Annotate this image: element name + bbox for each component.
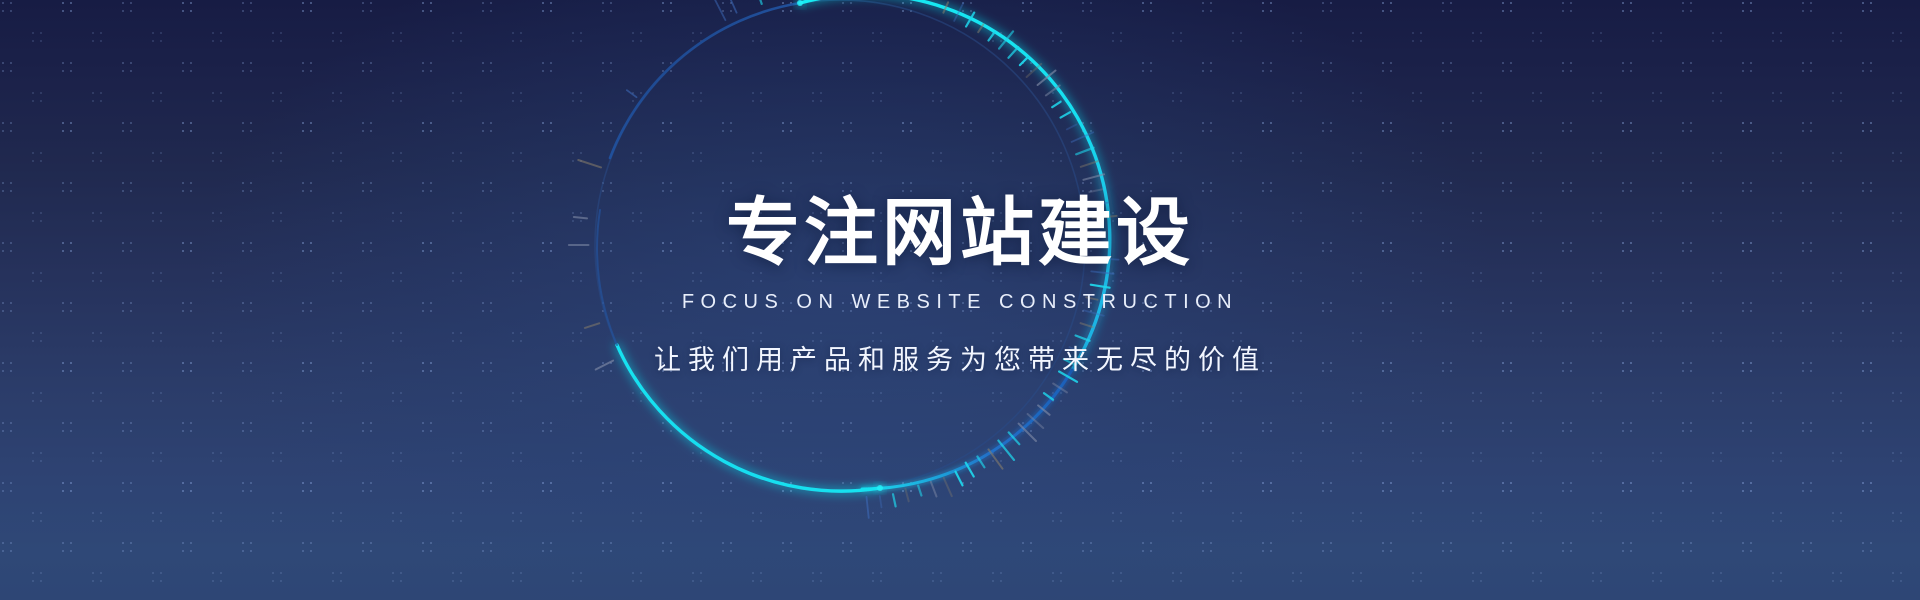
banner-content: 专注网站建设 FOCUS ON WEBSITE CONSTRUCTION 让我们…: [0, 0, 1920, 600]
hero-banner: 专注网站建设 FOCUS ON WEBSITE CONSTRUCTION 让我们…: [0, 0, 1920, 600]
banner-tagline: 让我们用产品和服务为您带来无尽的价值: [654, 338, 1266, 377]
banner-subtitle-en: FOCUS ON WEBSITE CONSTRUCTION: [682, 291, 1238, 314]
page-title: 专注网站建设: [726, 195, 1194, 272]
